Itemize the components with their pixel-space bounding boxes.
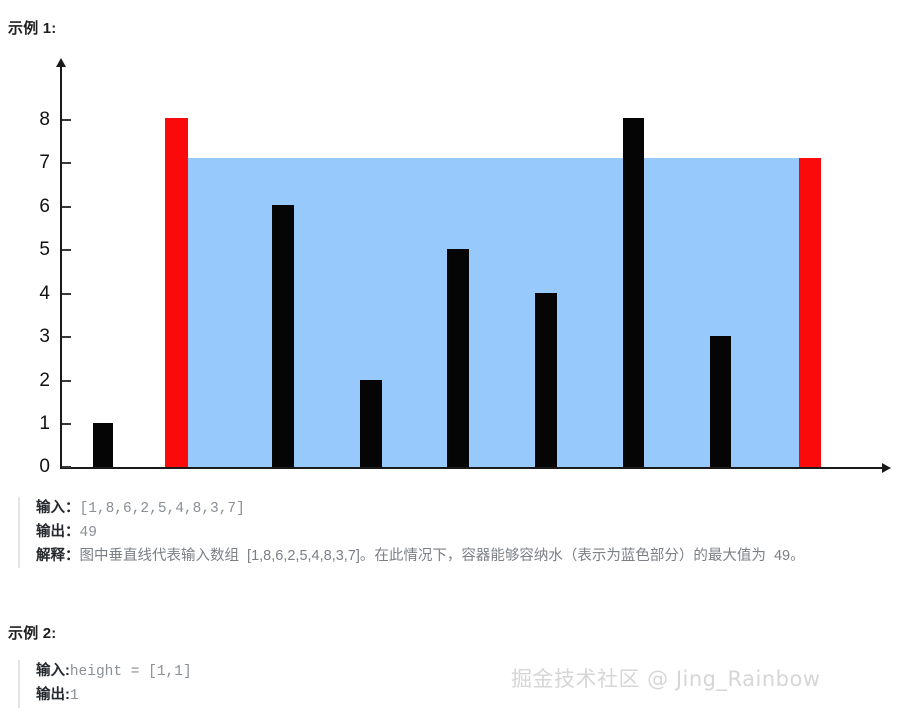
example-2-input-label: 输入:: [36, 663, 70, 679]
example-1-explain-line: 解释：图中垂直线代表输入数组 [1,8,6,2,5,4,8,3,7]。在此情况下…: [36, 545, 902, 568]
container-with-most-water-chart: 0 1 2 3 4 5 6 7 8: [0, 55, 902, 485]
y-tick-0: [62, 466, 71, 468]
example-1-input-line: 输入：[1,8,6,2,5,4,8,3,7]: [36, 497, 902, 521]
example-2-input-value: height = [1,1]: [70, 664, 192, 680]
bar-index-7: [710, 336, 731, 467]
example-2-output-value: 1: [70, 688, 79, 704]
y-tick-label-8: 8: [24, 110, 50, 129]
y-tick-6: [62, 206, 71, 208]
bar-index-6: [623, 118, 644, 467]
example-1-explain-label: 解释：: [36, 548, 80, 564]
x-axis-line: [60, 467, 885, 469]
y-tick-1: [62, 423, 71, 425]
watermark: 掘金技术社区 @ Jing_Rainbow: [511, 663, 821, 693]
y-tick-4: [62, 293, 71, 295]
y-tick-label-7: 7: [24, 153, 50, 172]
example-1-description: 输入：[1,8,6,2,5,4,8,3,7] 输出：49 解释：图中垂直线代表输…: [18, 497, 902, 568]
y-tick-label-2: 2: [24, 371, 50, 390]
y-tick-label-4: 4: [24, 284, 50, 303]
bar-index-2: [272, 205, 294, 467]
bar-index-1: [165, 118, 188, 467]
y-tick-7: [62, 162, 71, 164]
example-1-explain-text: 图中垂直线代表输入数组 [1,8,6,2,5,4,8,3,7]。在此情况下，容器…: [80, 548, 805, 564]
y-tick-label-0: 0: [24, 457, 50, 476]
bar-index-5: [535, 293, 557, 467]
bar-index-4: [447, 249, 469, 467]
example-1-output-value: 49: [80, 525, 97, 541]
y-tick-label-5: 5: [24, 240, 50, 259]
example-1-heading: 示例 1:: [8, 17, 57, 38]
bar-index-3: [360, 380, 382, 467]
y-tick-label-3: 3: [24, 327, 50, 346]
y-axis-arrow-icon: [56, 58, 66, 67]
example-1-input-value: [1,8,6,2,5,4,8,3,7]: [80, 501, 245, 517]
y-tick-5: [62, 249, 71, 251]
y-tick-label-6: 6: [24, 197, 50, 216]
y-tick-3: [62, 336, 71, 338]
example-1-input-label: 输入：: [36, 500, 80, 516]
y-tick-2: [62, 380, 71, 382]
y-tick-8: [62, 119, 71, 121]
bar-index-0: [93, 423, 113, 467]
example-2-output-label: 输出:: [36, 687, 70, 703]
bar-index-8: [799, 158, 821, 467]
example-1-output-line: 输出：49: [36, 521, 902, 545]
y-tick-label-1: 1: [24, 414, 50, 433]
x-axis-arrow-icon: [882, 463, 891, 473]
example-2-heading: 示例 2:: [8, 622, 57, 643]
example-1-output-label: 输出：: [36, 524, 80, 540]
y-axis-line: [60, 65, 62, 469]
